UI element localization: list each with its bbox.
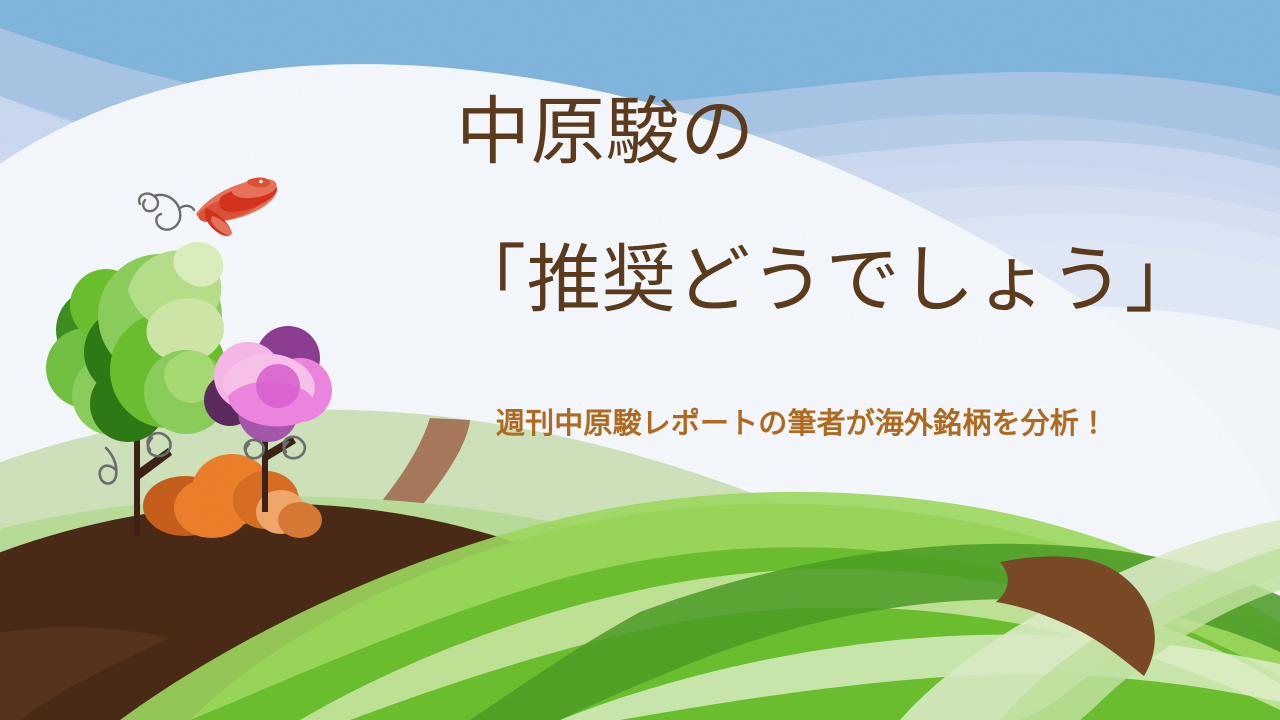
- bush-lobe-far-right: [278, 502, 322, 538]
- bird-eye: [259, 180, 263, 184]
- title-slide: 中原駿の 「推奨どうでしょう」 週刊中原駿レポートの筆者が海外銘柄を分析！: [0, 0, 1280, 720]
- background-illustration: [0, 0, 1280, 720]
- blossom-blob-magenta-core: [256, 364, 300, 408]
- green-tree-trunk: [134, 430, 140, 536]
